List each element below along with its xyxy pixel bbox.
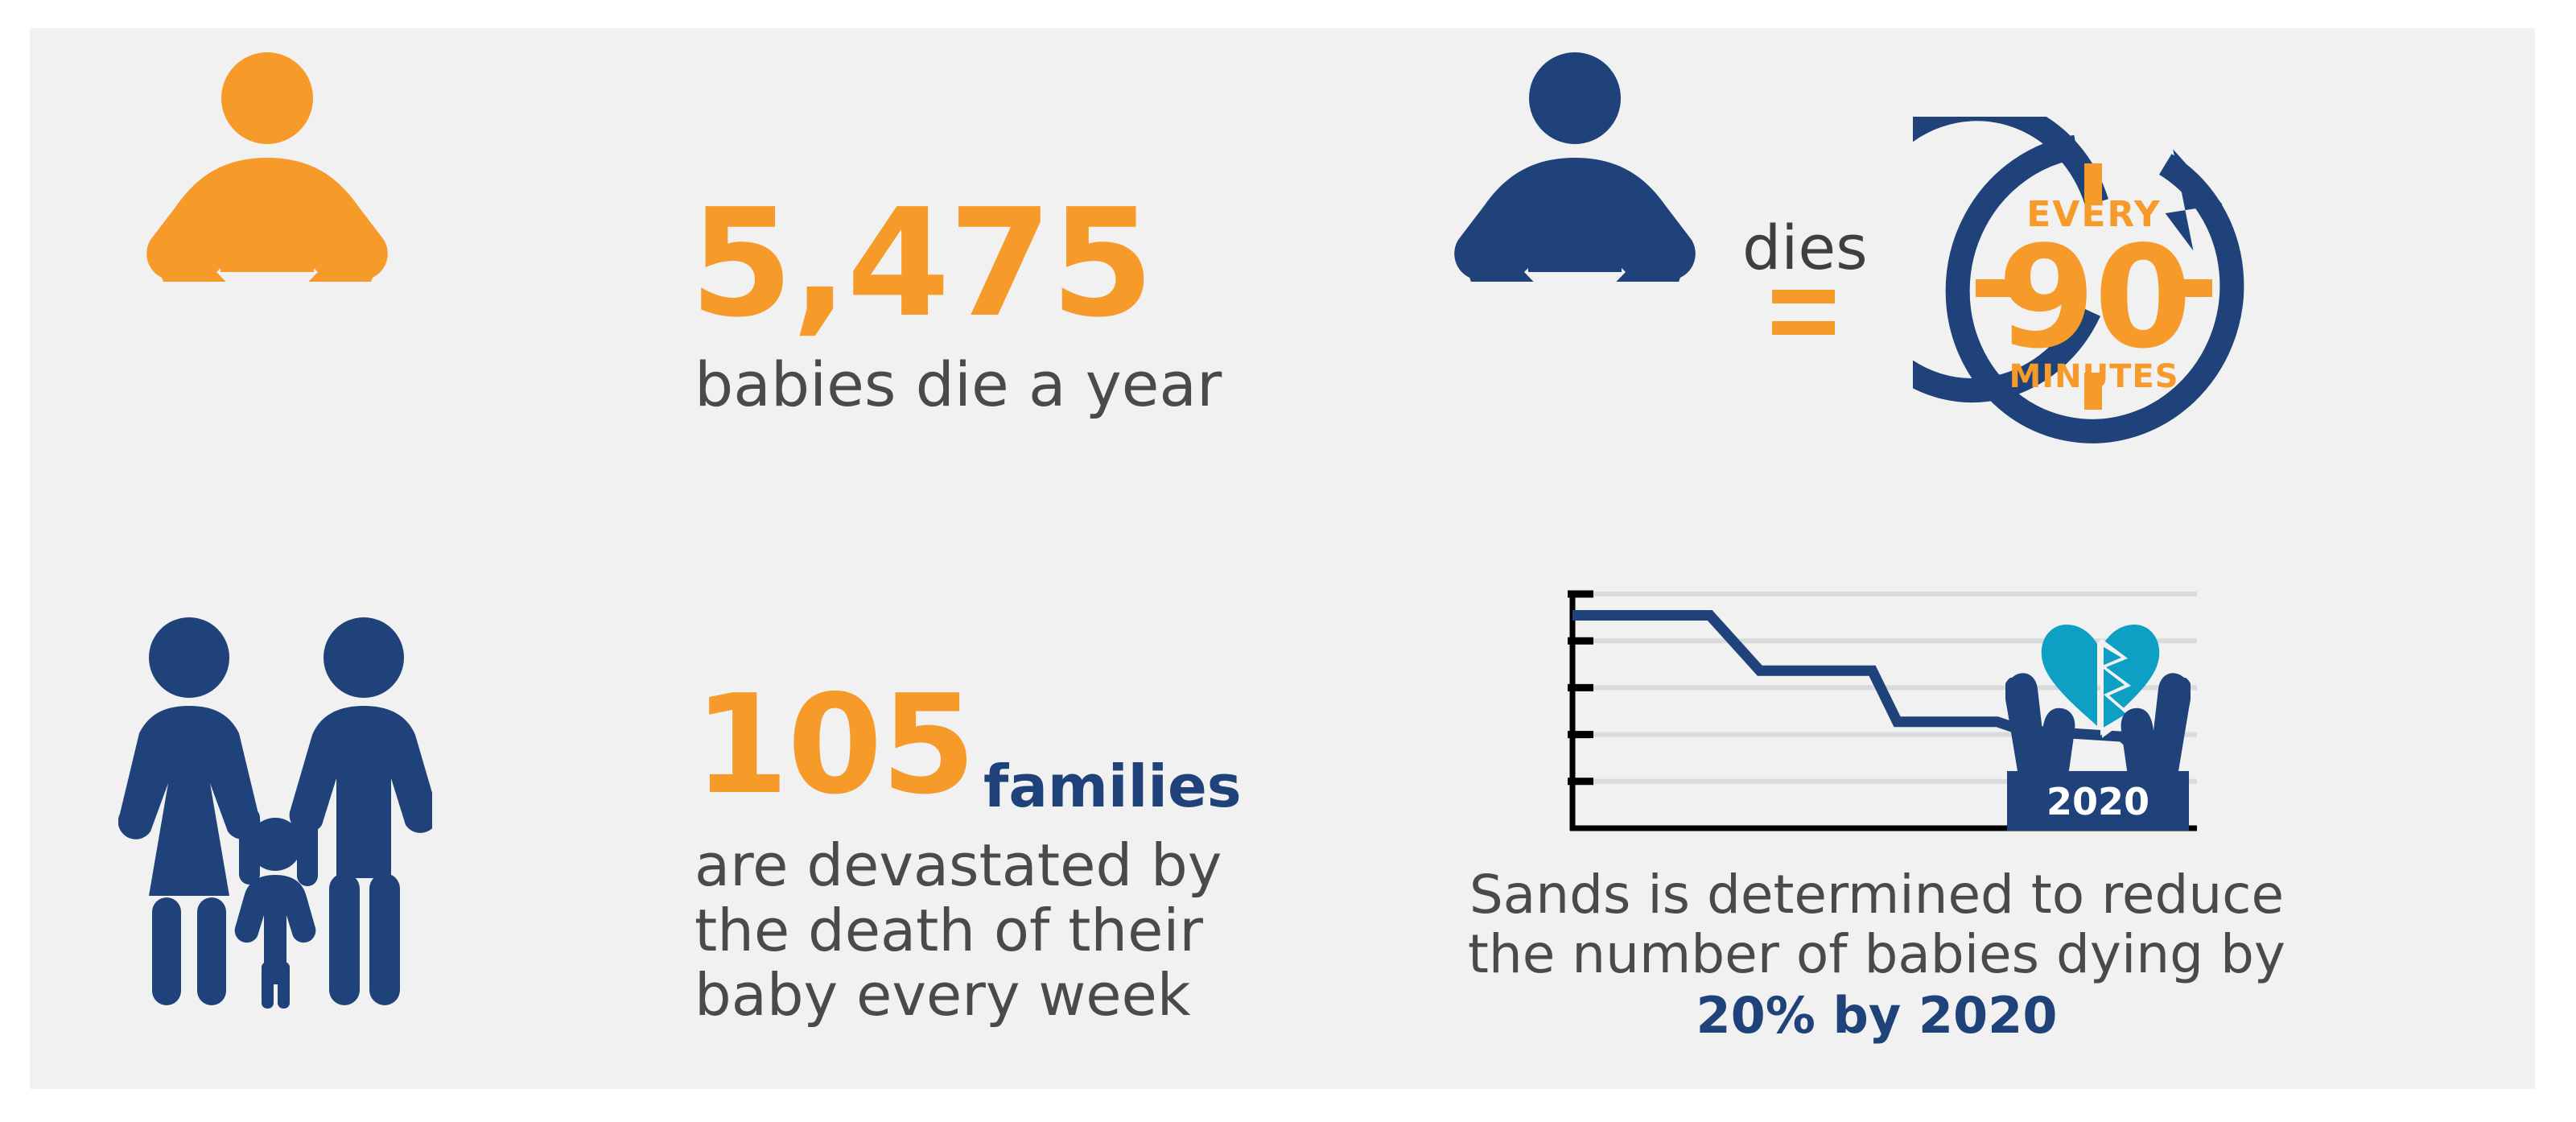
baby-icon-orange: [134, 48, 400, 282]
equals-icon: [1772, 290, 1835, 335]
target-caption-line-2: the number of babies dying by: [1466, 925, 2287, 984]
families-caption: are devastated by the death of their bab…: [694, 833, 1222, 1028]
target-caption-line-1: Sands is determined to reduce: [1466, 865, 2287, 925]
clock-label-number: 90: [1913, 217, 2275, 380]
families-caption-line-1: are devastated by: [694, 833, 1222, 898]
target-caption-bold: 20% by 2020: [1466, 986, 2287, 1045]
target-caption: Sands is determined to reduce the number…: [1466, 865, 2287, 984]
babies-caption: babies die a year: [694, 350, 1222, 419]
families-count: 105: [694, 677, 975, 814]
content-panel: 5,475 babies die a year: [30, 28, 2535, 1089]
cupped-hands-icon: [2005, 673, 2191, 776]
hands-holding-broken-heart: 2020: [2005, 604, 2191, 831]
families-caption-line-2: the death of their: [694, 898, 1222, 963]
baby-icon-navy: [1442, 48, 1708, 282]
infographic-canvas: 5,475 babies die a year: [0, 0, 2576, 1122]
families-caption-line-3: baby every week: [694, 963, 1222, 1028]
dies-label: dies: [1742, 212, 1868, 283]
svg-text:2020: 2020: [2046, 780, 2149, 823]
family-icon-navy: [118, 608, 432, 1010]
clock-cycle-icon: EVERY 90 MINUTES: [1913, 117, 2275, 455]
clock-label-minutes: MINUTES: [1913, 358, 2275, 395]
babies-count: 5,475: [690, 189, 1152, 338]
reduction-chart: 2020: [1555, 580, 2199, 845]
families-word: families: [983, 753, 1242, 820]
